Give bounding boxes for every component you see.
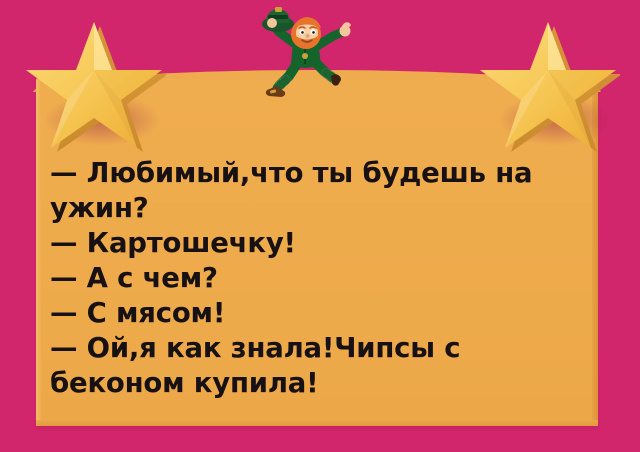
star-icon [480,12,620,152]
leprechaun-icon [253,2,357,102]
card-bottom-edge [36,420,598,426]
joke-text: — Любимый,что ты будешь на ужин? — Карто… [50,156,590,401]
star-icon [26,12,166,152]
joke-image-canvas: — Любимый,что ты будешь на ужин? — Карто… [0,0,640,452]
